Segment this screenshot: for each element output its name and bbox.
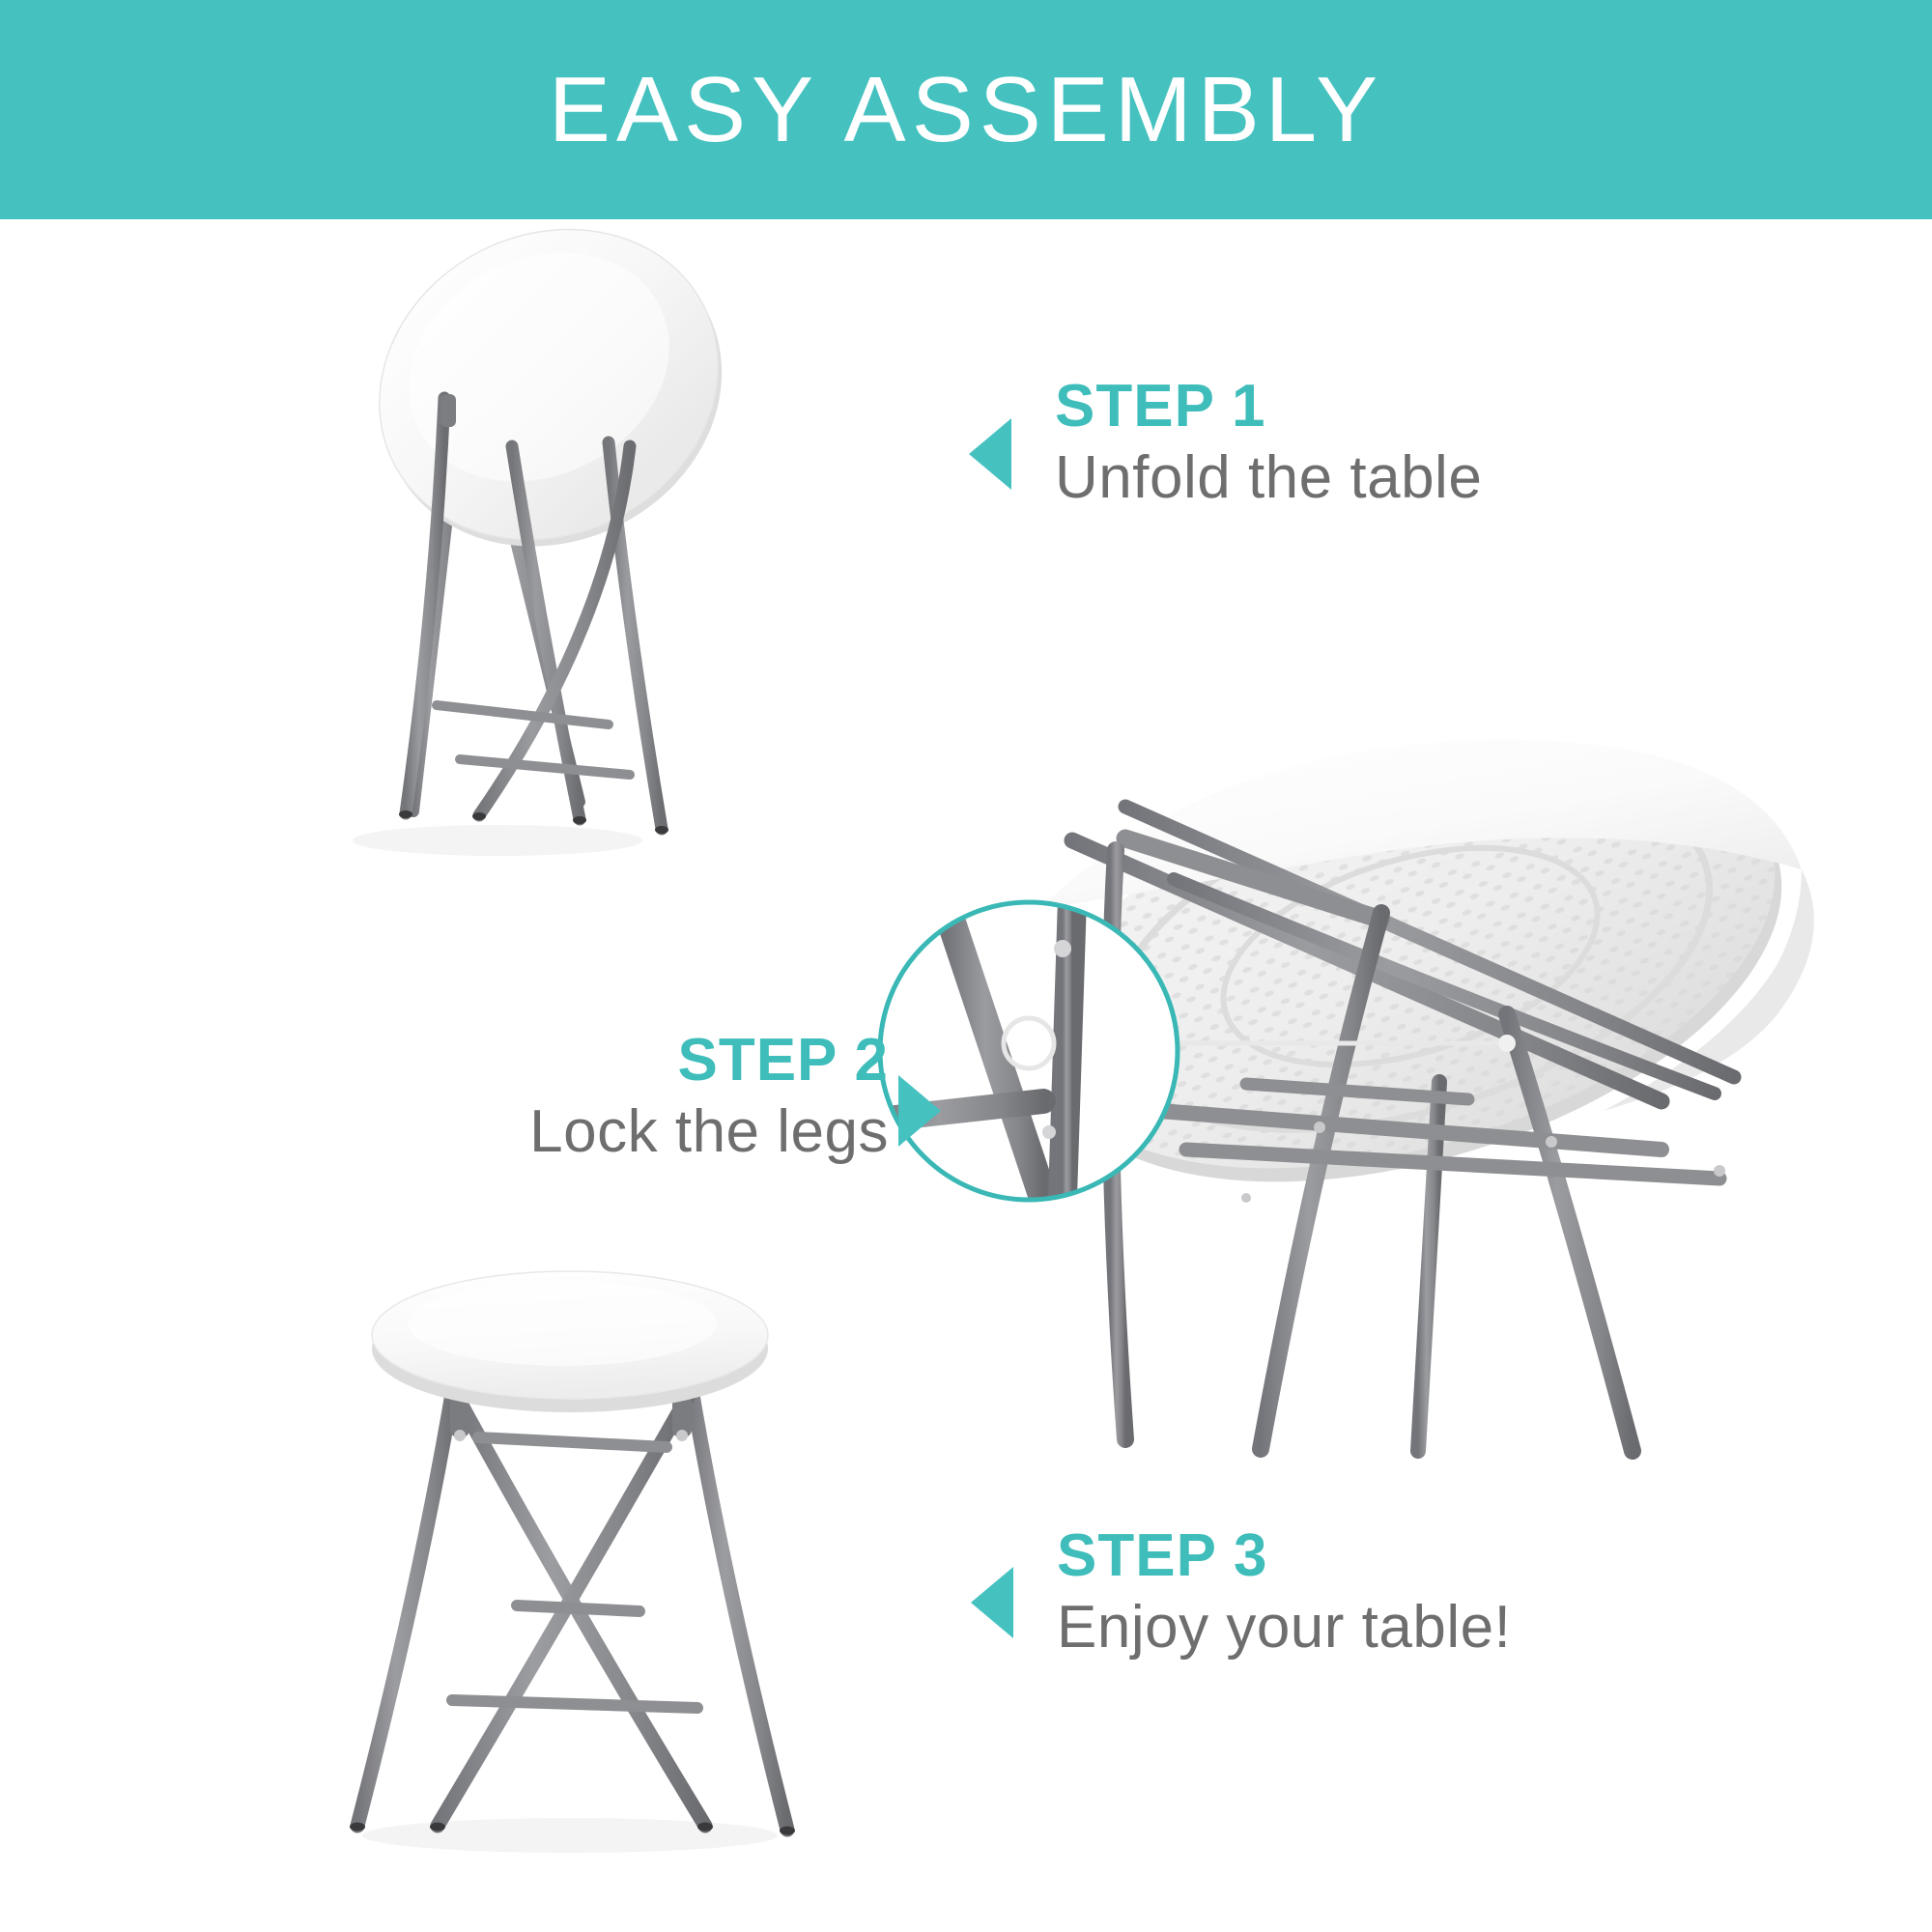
step-2-description: Lock the legs xyxy=(328,1092,889,1173)
tabletop xyxy=(372,1271,768,1412)
step-2-block: STEP 2 Lock the legs xyxy=(328,1029,889,1173)
leg-lock-magnifier-callout xyxy=(869,898,1179,1201)
tabletop-tilted xyxy=(326,172,775,604)
page-title: EASY ASSEMBLY xyxy=(549,64,1383,156)
table-underside-leg-lock-photo xyxy=(927,696,1932,1459)
step-1-description: Unfold the table xyxy=(1055,438,1482,519)
ground-shadow xyxy=(353,825,642,856)
step-3-block: STEP 3 Enjoy your table! xyxy=(1057,1524,1511,1668)
header-band: EASY ASSEMBLY xyxy=(0,0,1932,219)
tall-cocktail-table-unfolding-photo xyxy=(290,222,850,889)
step-3-description: Enjoy your table! xyxy=(1057,1587,1511,1668)
step-3-heading: STEP 3 xyxy=(1057,1524,1511,1587)
leg-hinge-bracket xyxy=(440,394,456,427)
assembled-cocktail-table-photo xyxy=(280,1246,860,1874)
triangle-right-icon-step-2 xyxy=(898,1075,941,1147)
triangle-left-icon-step-3 xyxy=(971,1567,1013,1638)
step-2-heading: STEP 2 xyxy=(328,1029,889,1092)
ground-shadow xyxy=(362,1818,778,1853)
table-cross-braces xyxy=(452,1437,697,1708)
table-legs xyxy=(357,1352,787,1830)
step-1-block: STEP 1 Unfold the table xyxy=(1055,375,1482,519)
step-1-heading: STEP 1 xyxy=(1055,375,1482,438)
triangle-left-icon-step-1 xyxy=(969,418,1011,490)
infographic-page: EASY ASSEMBLY xyxy=(0,0,1932,1932)
